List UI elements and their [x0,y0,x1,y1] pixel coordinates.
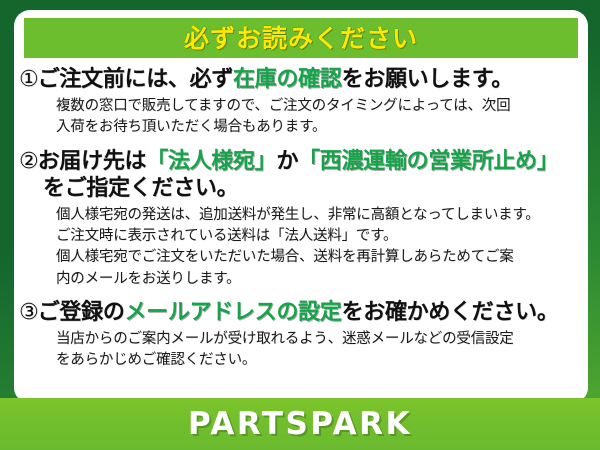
item-3-heading-pre: ご登録の [38,300,125,325]
notice-items: ①ご注文前には、必ず在庫の確認をお願いします。 複数の窓口で販売してますので、ご… [14,66,588,372]
item-3-heading: ③ご登録のメールアドレスの設定をお確かめください。 [14,299,588,326]
item-3-body: 当店からのご案内メールが受け取れるよう、迷惑メールなどの受信設定 をあらかじめご… [14,326,588,372]
item-3-heading-highlight: メールアドレスの設定 [125,300,342,325]
item-3-body-line-2: をあらかじめご確認ください。 [56,350,588,371]
item-1-body-line-1: 複数の窓口で販売してますので、ご注文のタイミングによっては、次回 [56,96,588,117]
item-3-heading-post: をお確かめください。 [342,300,559,325]
white-panel: 必ずお読みください ①ご注文前には、必ず在庫の確認をお願いします。 複数の窓口で… [14,10,588,402]
brand-logo-partspark: PARTSPARK [188,409,412,440]
item-1-number: ① [19,67,38,92]
item-2-body-line-1: 個人様宅宛の発送は、追加送料が発生し、非常に高額となってしまいます。 [56,205,588,226]
item-2-heading-pre: お届け先は [38,149,147,174]
item-2-heading-highlight-2: 「西濃運輸の営業所止め」 [298,149,558,174]
item-2-heading-line-2: をご指定ください。 [19,175,588,202]
notice-item-2: ②お届け先は「法人様宛」か「西濃運輸の営業所止め」 をご指定ください。 個人様宅… [14,148,588,290]
item-1-heading-post: をお願いします。 [342,67,513,92]
notice-item-1: ①ご注文前には、必ず在庫の確認をお願いします。 複数の窓口で販売してますので、ご… [14,66,588,139]
item-1-heading-highlight: 在庫の確認 [233,67,342,92]
item-1-heading: ①ご注文前には、必ず在庫の確認をお願いします。 [14,66,588,93]
item-2-heading-mid: か [276,149,298,174]
item-3-number: ③ [19,300,38,325]
notice-banner: 必ずお読みください ①ご注文前には、必ず在庫の確認をお願いします。 複数の窓口で… [0,0,600,450]
footer-bar: PARTSPARK [0,398,600,450]
item-2-heading-highlight-1: 「法人様宛」 [146,149,276,174]
item-2-heading: ②お届け先は「法人様宛」か「西濃運輸の営業所止め」 をご指定ください。 [14,148,588,202]
item-2-body-line-2: ご注文時に表示されている送料は「法人送料」です。 [56,226,588,247]
title-banner: 必ずお読みください [24,18,578,58]
item-2-number: ② [19,149,38,174]
item-2-body-line-3: 個人様宅宛でご注文をいただいた場合、送料を再計算しあらためてご案 [56,247,588,268]
item-3-body-line-1: 当店からのご案内メールが受け取れるよう、迷惑メールなどの受信設定 [56,329,588,350]
banner-title: 必ずお読みください [184,26,418,51]
item-2-body: 個人様宅宛の発送は、追加送料が発生し、非常に高額となってしまいます。 ご注文時に… [14,202,588,290]
item-2-body-line-4: 内のメールをお送りします。 [56,269,588,290]
notice-item-3: ③ご登録のメールアドレスの設定をお確かめください。 当店からのご案内メールが受け… [14,299,588,372]
item-1-body: 複数の窓口で販売してますので、ご注文のタイミングによっては、次回 入荷をお待ち頂… [14,93,588,139]
item-1-body-line-2: 入荷をお待ち頂いただく場合もあります。 [56,117,588,138]
item-1-heading-pre: ご注文前には、必ず [38,67,233,92]
